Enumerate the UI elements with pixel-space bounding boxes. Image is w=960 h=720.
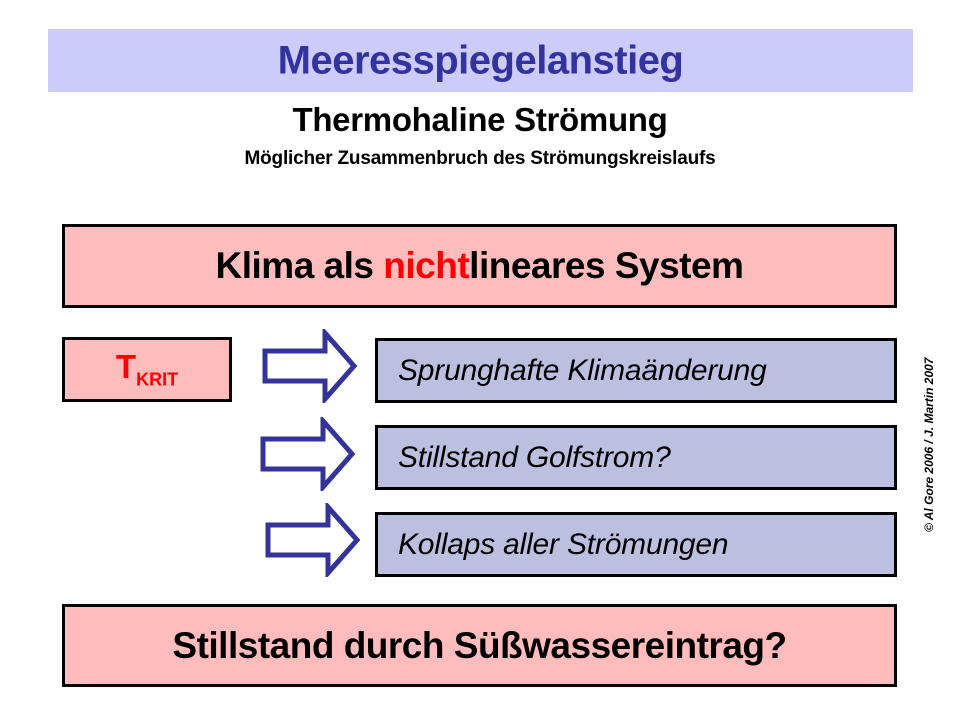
- box-consequence-label: Stillstand Golfstrom?: [378, 441, 894, 475]
- arrow-right-icon: [265, 503, 361, 577]
- temperature-subscript: KRIT: [136, 370, 178, 390]
- text-segment-suffix: lineares System: [469, 245, 743, 286]
- box-consequence-label: Kollaps aller Strömungen: [378, 528, 894, 562]
- temperature-symbol: T: [116, 348, 136, 385]
- copyright-notice: © Al Gore 2006 / J. Martin 2007: [918, 352, 940, 532]
- text-segment-prefix: Klima als: [216, 245, 384, 286]
- box-consequence-label: Sprunghafte Klimaänderung: [378, 354, 894, 388]
- text-segment-accent: nicht: [383, 245, 469, 286]
- box-consequence-abrupt-climate-change: Sprunghafte Klimaänderung: [375, 338, 897, 403]
- subtitle-secondary: Möglicher Zusammenbruch des Strömungskre…: [0, 148, 960, 170]
- box-critical-temperature-label: TKRIT: [65, 348, 229, 391]
- arrow-right-icon: [260, 417, 356, 491]
- box-consequence-current-collapse: Kollaps aller Strömungen: [375, 512, 897, 577]
- title-banner: Meeresspiegelanstieg: [48, 29, 913, 92]
- box-freshwater-input: Stillstand durch Süßwassereintrag?: [62, 604, 897, 687]
- box-nonlinear-system: Klima als nichtlineares System: [62, 224, 897, 308]
- arrow-right-icon: [262, 329, 358, 403]
- box-consequence-gulf-stream-halt: Stillstand Golfstrom?: [375, 425, 897, 490]
- box-critical-temperature: TKRIT: [62, 337, 232, 402]
- box-freshwater-input-label: Stillstand durch Süßwassereintrag?: [65, 625, 894, 667]
- subtitle-primary: Thermohaline Strömung: [0, 101, 960, 139]
- box-nonlinear-system-label: Klima als nichtlineares System: [65, 245, 894, 287]
- page-title: Meeresspiegelanstieg: [48, 38, 913, 83]
